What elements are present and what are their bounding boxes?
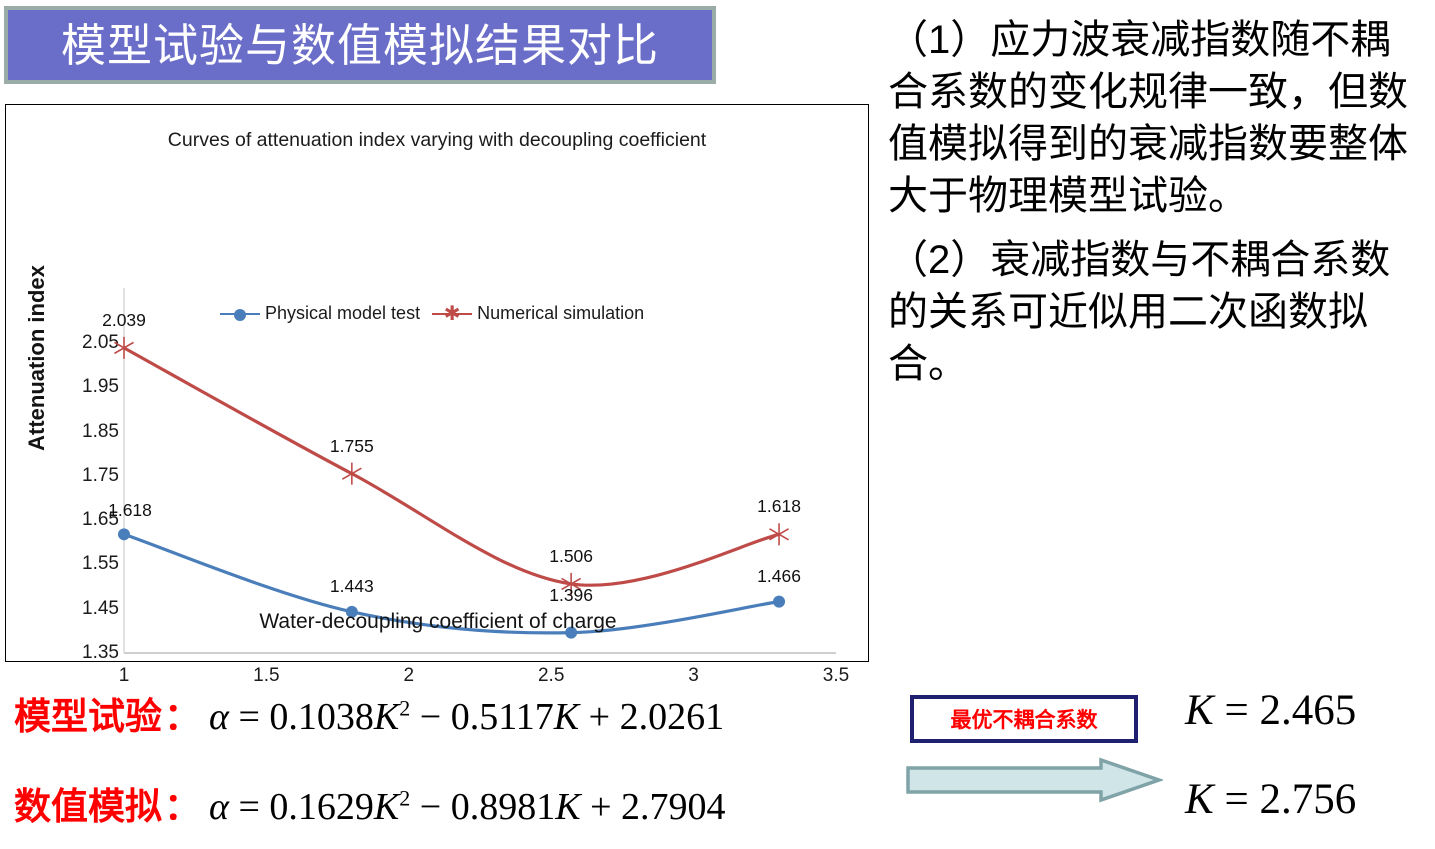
x-tick-label: 3 [669, 665, 719, 687]
data-point-label: 1.506 [549, 546, 593, 567]
optimal-k-value-2: K = 2.756 [1185, 775, 1356, 824]
formula-physical-model: 模型试验 ： α = 0.1038K2 − 0.5117K + 2.0261 [14, 686, 724, 740]
formula-1-colon: ： [162, 686, 203, 740]
formula-1-math: α = 0.1038K2 − 0.5117K + 2.0261 [203, 695, 724, 739]
chart-x-axis-label: Water-decoupling coefficient of charge [6, 610, 870, 634]
slide-title-text: 模型试验与数值模拟结果对比 [61, 23, 659, 68]
k-symbol-2: K [1185, 776, 1214, 823]
data-point-label: 1.618 [108, 500, 152, 521]
conclusion-paragraph-1: （1）应力波衰减指数随不耦合系数的变化规律一致，但数值模拟得到的衰减指数要整体大… [888, 14, 1428, 222]
x-tick-label: 2 [384, 665, 434, 687]
optimal-k-value-1: K = 2.465 [1185, 686, 1356, 735]
x-tick-label: 3.5 [811, 665, 861, 687]
conclusion-paragraph-2: （2）衰减指数与不耦合系数的关系可近似用二次函数拟合。 [888, 234, 1428, 390]
formula-1-label: 模型试验 [14, 686, 162, 740]
x-tick-label: 2.5 [526, 665, 576, 687]
conclusions-panel: （1）应力波衰减指数随不耦合系数的变化规律一致，但数值模拟得到的衰减指数要整体大… [888, 14, 1428, 400]
x-tick-label: 1.5 [241, 665, 291, 687]
slide-title-banner: 模型试验与数值模拟结果对比 [4, 6, 716, 84]
formula-2-colon: ： [162, 776, 203, 830]
k-equation-1: = 2.465 [1214, 687, 1357, 734]
k-equation-2: = 2.756 [1214, 776, 1357, 823]
chart-panel: Curves of attenuation index varying with… [5, 104, 869, 662]
chart-plot-area: Attenuation index 1.351.451.551.651.751.… [6, 105, 870, 663]
k-symbol-1: K [1185, 687, 1214, 734]
data-point-label: 1.466 [757, 566, 801, 587]
data-point-label: 1.396 [549, 585, 593, 606]
data-point-label: 1.755 [330, 436, 374, 457]
formula-numerical-simulation: 数值模拟 ： α = 0.1629K2 − 0.8981K + 2.7904 [14, 776, 726, 830]
formula-2-math: α = 0.1629K2 − 0.8981K + 2.7904 [203, 785, 726, 829]
chart-curves [6, 105, 870, 663]
data-point-label: 1.618 [757, 496, 801, 517]
data-point-label: 2.039 [102, 310, 146, 331]
optimal-decoupling-label: 最优不耦合系数 [951, 704, 1098, 734]
right-arrow-icon [905, 757, 1163, 803]
optimal-decoupling-callout-box: 最优不耦合系数 [910, 695, 1138, 743]
formula-2-label: 数值模拟 [14, 776, 162, 830]
x-tick-label: 1 [99, 665, 149, 687]
data-point-label: 1.443 [330, 576, 374, 597]
